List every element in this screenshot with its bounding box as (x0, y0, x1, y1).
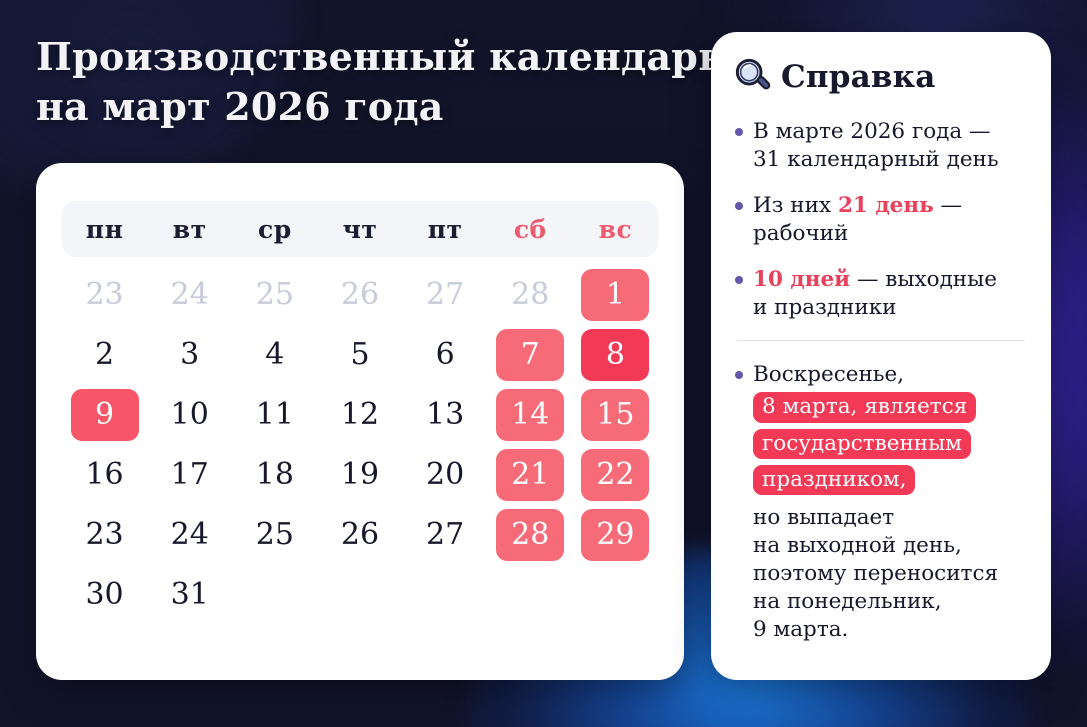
info-bullet-2-accent: 21 день (838, 193, 934, 218)
calendar-day-number: 19 (326, 449, 394, 501)
infographic-page: Производственный календарь на март 2026 … (0, 0, 1087, 727)
calendar-day-cell[interactable]: 4 (232, 325, 317, 385)
calendar-day-number (411, 569, 479, 621)
calendar-day-cell[interactable]: 9 (62, 385, 147, 445)
calendar-day-number: 30 (71, 569, 139, 621)
calendar-day-cell[interactable]: 11 (232, 385, 317, 445)
calendar-day-cell[interactable]: 5 (317, 325, 402, 385)
info-note-tail-2: на выходной день, (753, 532, 1029, 560)
calendar-day-cell[interactable]: 26 (317, 265, 402, 325)
calendar-day-number: 26 (326, 269, 394, 321)
weekday-header-fri: пт (403, 215, 488, 244)
calendar-day-cell[interactable]: 22 (573, 445, 658, 505)
calendar-week-row: 2324252627281 (62, 265, 658, 325)
calendar-day-cell[interactable]: 23 (62, 265, 147, 325)
calendar-day-cell[interactable]: 30 (62, 565, 147, 625)
calendar-day-number: 20 (411, 449, 479, 501)
calendar-week-row: 3031 (62, 565, 658, 625)
calendar-day-number: 28 (496, 269, 564, 321)
calendar-card: пн вт ср чт пт сб вс 2324252627281234567… (36, 163, 684, 680)
calendar-day-cell[interactable]: 17 (147, 445, 232, 505)
calendar-day-number: 5 (326, 329, 394, 381)
calendar-day-number: 16 (71, 449, 139, 501)
page-title-line-1: Производственный календарь (36, 32, 696, 82)
calendar-day-number: 25 (241, 269, 309, 321)
calendar-day-number: 7 (496, 329, 564, 381)
weekday-header-sat: сб (488, 215, 573, 244)
info-bullet-2-suffix: — (934, 193, 962, 218)
calendar-day-cell[interactable]: 28 (488, 265, 573, 325)
calendar-day-number: 6 (411, 329, 479, 381)
info-note-highlight-group: 8 марта, является государственным праздн… (753, 389, 1029, 498)
calendar-day-number: 22 (581, 449, 649, 501)
info-card-heading: Справка (733, 56, 1029, 98)
weekday-header-wed: ср (232, 215, 317, 244)
magnifier-icon (733, 56, 771, 98)
info-bullet-1-line-2: 31 календарный день (753, 147, 999, 172)
calendar-day-empty (573, 565, 658, 625)
calendar-day-empty (403, 565, 488, 625)
weekday-header-mon: пн (62, 215, 147, 244)
calendar-day-number: 4 (241, 329, 309, 381)
calendar-day-cell[interactable]: 7 (488, 325, 573, 385)
calendar-day-empty (232, 565, 317, 625)
calendar-day-number: 23 (71, 509, 139, 561)
info-bullet-list: В марте 2026 года — 31 календарный день … (733, 118, 1029, 322)
calendar-day-cell[interactable]: 24 (147, 265, 232, 325)
calendar-day-number: 21 (496, 449, 564, 501)
info-bullet-calendar-days: В марте 2026 года — 31 календарный день (733, 118, 1029, 175)
info-note-tail-3: поэтому переносится (753, 560, 1029, 588)
calendar-day-number: 15 (581, 389, 649, 441)
weekday-header-thu: чт (317, 215, 402, 244)
calendar-day-cell[interactable]: 21 (488, 445, 573, 505)
calendar-day-cell[interactable]: 23 (62, 505, 147, 565)
calendar-day-cell[interactable]: 29 (573, 505, 658, 565)
calendar-day-number: 24 (156, 269, 224, 321)
calendar-day-number: 8 (581, 329, 649, 381)
info-bullet-march-8-note: Воскресенье, 8 марта, является государст… (733, 361, 1029, 644)
info-card-divider (737, 340, 1025, 341)
calendar-day-cell[interactable]: 18 (232, 445, 317, 505)
calendar-day-number: 17 (156, 449, 224, 501)
info-note-highlight-3: праздником, (753, 465, 915, 495)
calendar-week-row: 2345678 (62, 325, 658, 385)
calendar-day-cell[interactable]: 25 (232, 265, 317, 325)
info-bullet-1-line-1: В марте 2026 года — (753, 119, 991, 144)
calendar-day-number: 24 (156, 509, 224, 561)
info-note-tail-4: на понедельник, (753, 588, 1029, 616)
weekday-header-sun: вс (573, 215, 658, 244)
calendar-day-cell[interactable]: 1 (573, 265, 658, 325)
page-title-line-2: на март 2026 года (36, 82, 696, 132)
info-bullet-days-off: 10 дней — выходные и праздники (733, 266, 1029, 323)
calendar-day-number: 23 (71, 269, 139, 321)
calendar-day-number (496, 569, 564, 621)
calendar-weekday-header: пн вт ср чт пт сб вс (62, 201, 658, 257)
calendar-day-number: 3 (156, 329, 224, 381)
calendar-day-cell[interactable]: 3 (147, 325, 232, 385)
calendar-day-cell[interactable]: 15 (573, 385, 658, 445)
info-note-tail-1: но выпадает (753, 504, 1029, 532)
calendar-day-number: 25 (241, 509, 309, 561)
info-note-highlight-2: государственным (753, 429, 971, 459)
calendar-day-number (241, 569, 309, 621)
info-bullet-working-days: Из них 21 день — рабочий (733, 192, 1029, 249)
calendar-day-cell[interactable]: 10 (147, 385, 232, 445)
calendar-day-number: 2 (71, 329, 139, 381)
calendar-day-number: 9 (71, 389, 139, 441)
info-bullet-3-suffix: — выходные (850, 267, 997, 292)
calendar-day-cell[interactable]: 27 (403, 505, 488, 565)
calendar-day-number: 27 (411, 509, 479, 561)
calendar-day-cell[interactable]: 14 (488, 385, 573, 445)
calendar-day-number: 14 (496, 389, 564, 441)
calendar-day-empty (488, 565, 573, 625)
calendar-day-cell[interactable]: 6 (403, 325, 488, 385)
calendar-grid: 2324252627281234567891011121314151617181… (62, 265, 658, 625)
info-note-highlight-1: 8 марта, является (753, 392, 976, 422)
calendar-day-number: 1 (581, 269, 649, 321)
calendar-day-cell[interactable]: 25 (232, 505, 317, 565)
calendar-week-row: 9101112131415 (62, 385, 658, 445)
calendar-day-number: 31 (156, 569, 224, 621)
calendar-week-row: 23242526272829 (62, 505, 658, 565)
calendar-day-cell[interactable]: 13 (403, 385, 488, 445)
info-card: Справка В марте 2026 года — 31 календарн… (711, 32, 1051, 680)
calendar-day-cell[interactable]: 27 (403, 265, 488, 325)
page-title: Производственный календарь на март 2026 … (36, 32, 696, 132)
calendar-day-number (581, 569, 649, 621)
calendar-day-number: 11 (241, 389, 309, 441)
calendar-day-cell[interactable]: 28 (488, 505, 573, 565)
weekday-header-tue: вт (147, 215, 232, 244)
info-card-title: Справка (781, 59, 936, 95)
info-note-tail-5: 9 марта. (753, 616, 1029, 644)
info-bullet-3-accent: 10 дней (753, 267, 850, 292)
calendar-day-empty (317, 565, 402, 625)
calendar-day-cell[interactable]: 16 (62, 445, 147, 505)
calendar-day-number: 18 (241, 449, 309, 501)
calendar-day-number: 12 (326, 389, 394, 441)
calendar-day-number: 28 (496, 509, 564, 561)
info-bullet-3-line-2: и праздники (753, 295, 896, 320)
calendar-day-number (326, 569, 394, 621)
calendar-day-number: 10 (156, 389, 224, 441)
calendar-day-cell[interactable]: 8 (573, 325, 658, 385)
calendar-day-cell[interactable]: 19 (317, 445, 402, 505)
calendar-day-cell[interactable]: 31 (147, 565, 232, 625)
calendar-day-cell[interactable]: 2 (62, 325, 147, 385)
calendar-day-cell[interactable]: 20 (403, 445, 488, 505)
info-bullet-2-prefix: Из них (753, 193, 838, 218)
calendar-day-cell[interactable]: 12 (317, 385, 402, 445)
info-bullet-2-line-2: рабочий (753, 221, 848, 246)
calendar-day-cell[interactable]: 26 (317, 505, 402, 565)
calendar-day-number: 27 (411, 269, 479, 321)
calendar-day-cell[interactable]: 24 (147, 505, 232, 565)
calendar-day-number: 29 (581, 509, 649, 561)
info-note-list: Воскресенье, 8 марта, является государст… (733, 361, 1029, 644)
info-note-lead: Воскресенье, (753, 362, 904, 387)
info-note-tail: но выпадает на выходной день, поэтому пе… (753, 504, 1029, 644)
calendar-day-number: 26 (326, 509, 394, 561)
calendar-day-number: 13 (411, 389, 479, 441)
calendar-week-row: 16171819202122 (62, 445, 658, 505)
